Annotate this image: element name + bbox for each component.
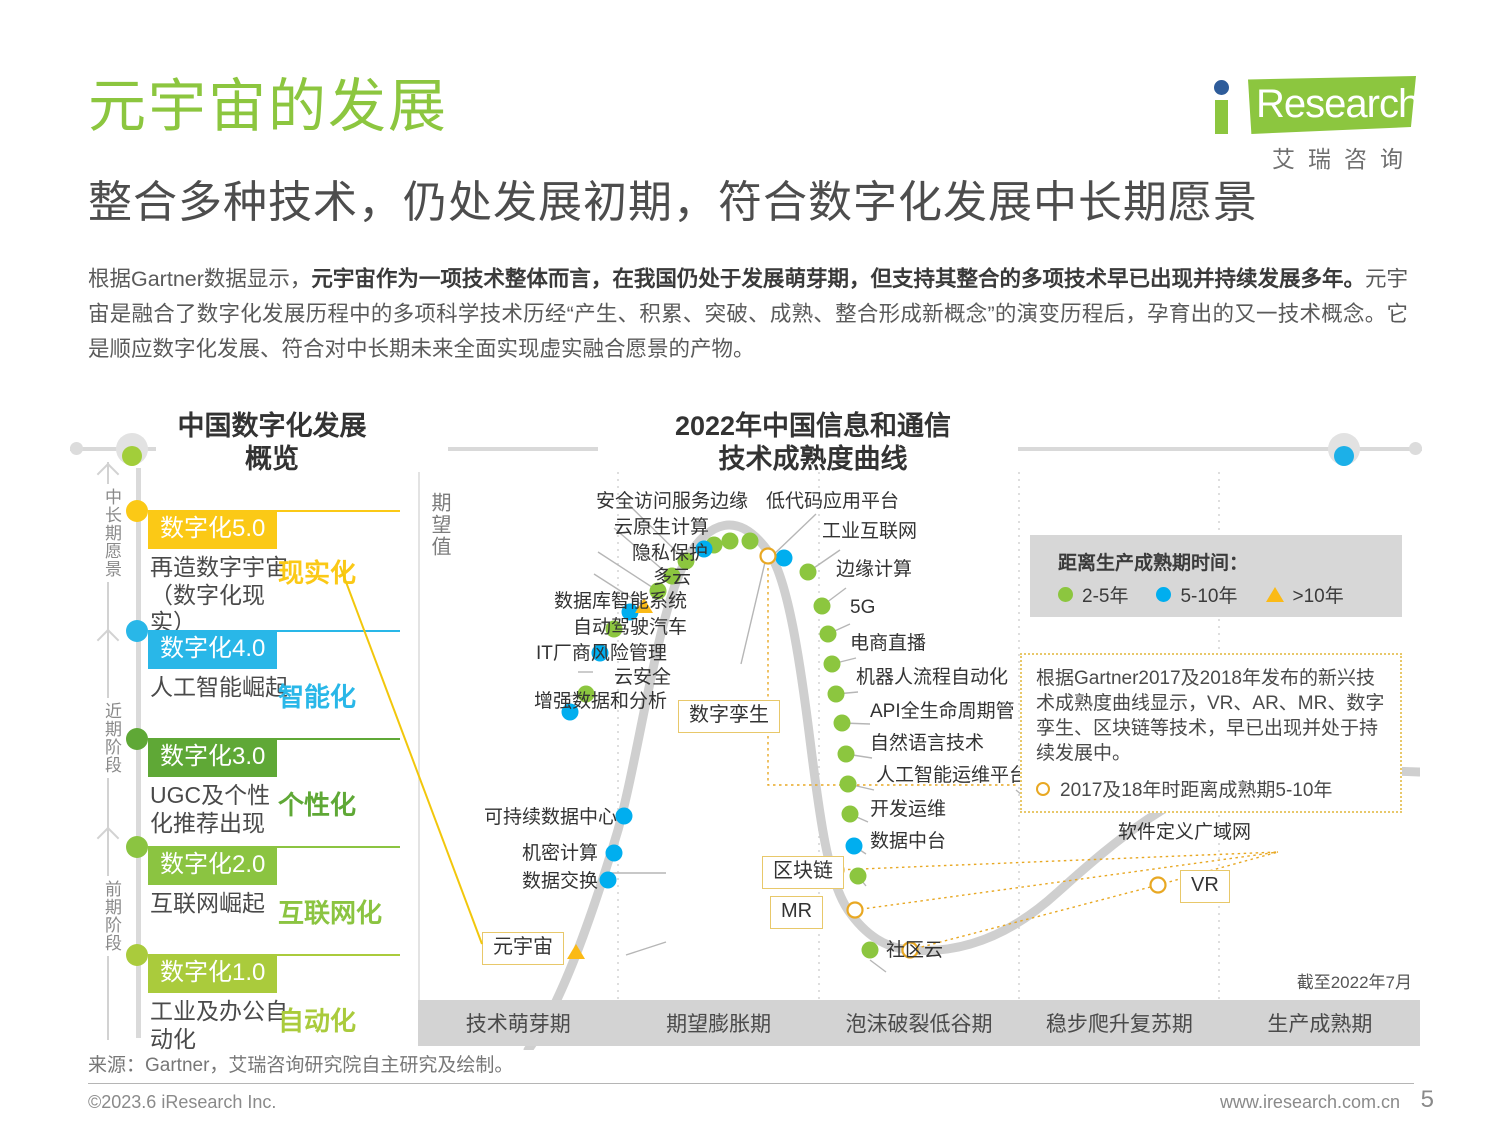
page-subtitle: 整合多种技术，仍处发展初期，符合数字化发展中长期愿景 — [88, 178, 1258, 229]
stage-desc-3: UGC及个性化推荐出现 — [150, 782, 288, 837]
point-label-multi-cloud: 多云 — [653, 568, 691, 589]
axis-arrow-low-icon — [97, 827, 120, 850]
paragraph-bold: 元宇宙作为一项技术整体而言，在我国仍处于发展萌芽期，但支持其整合的多项技术早已出… — [311, 267, 1365, 291]
footer-copyright: ©2023.6 iResearch Inc. — [88, 1092, 276, 1113]
sidebar-to-chart-connector — [330, 560, 530, 960]
phase-label-2: 期望膨胀期 — [618, 1000, 818, 1046]
point-label-mr[interactable]: MR — [770, 896, 823, 929]
logo-i-dot-icon — [1214, 80, 1229, 95]
chart-phase-bar: 技术萌芽期 期望膨胀期 泡沫破裂低谷期 稳步爬升复苏期 生产成熟期 — [418, 1000, 1420, 1046]
point-label-it-vendor-risk-management: IT厂商风险管理 — [536, 644, 667, 665]
phase-label-5: 生产成熟期 — [1220, 1000, 1420, 1046]
stage-node-2 — [126, 836, 148, 858]
legend-green-dot-icon — [1058, 587, 1073, 602]
point-label-data-exchange: 数据交换 — [522, 872, 598, 893]
legend-entry-2-5y: 2-5年 — [1058, 581, 1128, 608]
footer-website[interactable]: www.iresearch.com.cn — [1220, 1092, 1400, 1113]
stage-badge-1: 数字化1.0 — [148, 956, 277, 993]
stage-node-3 — [126, 728, 148, 750]
point-label-intelligent-database-system: 数据库智能系统 — [554, 592, 687, 613]
point-label-community-cloud: 社区云 — [886, 941, 943, 962]
stage-keyword-1: 自动化 — [278, 1006, 406, 1037]
point-label-cloud-native-computing: 云原生计算 — [614, 518, 709, 539]
logo-mark: Research — [1208, 74, 1416, 136]
point-label-privacy-protection: 隐私保护 — [632, 544, 708, 565]
iresearch-logo: Research 艾瑞咨询 — [1208, 74, 1418, 136]
page-title: 元宇宙的发展 — [88, 78, 448, 136]
axis-arrow-mid-icon — [97, 629, 120, 652]
body-paragraph: 根据Gartner数据显示，元宇宙作为一项技术整体而言，在我国仍处于发展萌芽期，… — [88, 262, 1408, 366]
chart-legend: 距离生产成熟期时间： 2-5年 5-10年 >10年 — [1030, 535, 1402, 617]
stage-desc-4: 人工智能崛起 — [150, 674, 288, 702]
logo-i-stem-icon — [1215, 100, 1228, 134]
left-heading-line-2: 概览 — [148, 443, 396, 476]
stage-badge-3: 数字化3.0 — [148, 740, 277, 777]
annotation-key-label: 2017及18年时距离成熟期5-10年 — [1060, 775, 1332, 802]
chart-annotation-box: 根据Gartner2017及2018年发布的新兴技术成熟度曲线显示，VR、AR、… — [1020, 653, 1402, 813]
page-number: 5 — [1421, 1086, 1434, 1114]
legend-entry-gt-10y: >10年 — [1266, 581, 1344, 608]
footer-divider — [88, 1083, 1414, 1084]
stage-node-4 — [126, 620, 148, 642]
legend-label-2-5y: 2-5年 — [1082, 581, 1128, 608]
point-label-industrial-internet: 工业互联网 — [822, 522, 917, 543]
point-label-api-lifecycle-management: API全生命周期管 — [870, 702, 1015, 723]
axis-label-nearterm: 近期阶段 — [93, 698, 121, 778]
phase-label-1: 技术萌芽期 — [418, 1000, 618, 1046]
stage-desc-2: 互联网崛起 — [150, 890, 288, 918]
phase-label-4: 稳步爬升复苏期 — [1019, 1000, 1219, 1046]
phase-label-3: 泡沫破裂低谷期 — [819, 1000, 1019, 1046]
point-label-low-code-platform: 低代码应用平台 — [766, 492, 899, 513]
stage-badge-5: 数字化5.0 — [148, 512, 277, 549]
left-heading-line-1: 中国数字化发展 — [148, 410, 396, 443]
stage-desc-1: 工业及办公自动化 — [150, 998, 288, 1053]
stage-node-1 — [126, 944, 148, 966]
point-label-vr[interactable]: VR — [1180, 870, 1230, 903]
point-label-edge-computing: 边缘计算 — [836, 560, 912, 581]
point-label-devops: 开发运维 — [870, 800, 946, 821]
axis-label-early: 前期阶段 — [93, 876, 121, 956]
point-label-digital-twin[interactable]: 数字孪生 — [678, 700, 780, 733]
point-label-5g: 5G — [850, 598, 875, 619]
left-panel-heading: 中国数字化发展 概览 — [148, 410, 396, 476]
legend-triangle-icon — [1266, 587, 1284, 602]
legend-items: 2-5年 5-10年 >10年 — [1058, 581, 1344, 608]
chart-as-of-date: 截至2022年7月 — [1297, 968, 1412, 993]
point-label-blockchain[interactable]: 区块链 — [762, 856, 844, 889]
legend-label-gt-10y: >10年 — [1293, 581, 1344, 608]
point-label-confidential-computing: 机密计算 — [522, 844, 598, 865]
point-label-ecommerce-livestream: 电商直播 — [850, 634, 926, 655]
point-label-augmented-data-analytics: 增强数据和分析 — [534, 692, 667, 713]
stage-badge-2: 数字化2.0 — [148, 848, 277, 885]
stage-badge-4: 数字化4.0 — [148, 632, 277, 669]
stage-desc-5: 再造数字宇宙（数字化现实） — [150, 554, 288, 637]
point-label-aiops-platform: 人工智能运维平台 — [876, 766, 1028, 787]
point-label-sd-wan: 软件定义广域网 — [1118, 823, 1251, 844]
rail-cap-left — [70, 442, 83, 455]
hype-cycle-chart: 2022年中国信息和通信 技术成熟度曲线 期望值 — [418, 410, 1420, 1050]
hollow-circle-icon — [1036, 782, 1050, 796]
point-label-cloud-security: 云安全 — [614, 668, 671, 689]
legend-title: 距离生产成熟期时间： — [1058, 548, 1248, 575]
legend-entry-5-10y: 5-10年 — [1156, 581, 1237, 608]
point-label-secure-access-service-edge: 安全访问服务边缘 — [596, 492, 748, 513]
legend-blue-dot-icon — [1156, 587, 1171, 602]
maturity-vertical-axis: 中长期愿景 近期阶段 前期阶段 — [88, 462, 128, 1040]
point-label-autonomous-vehicle: 自动驾驶汽车 — [573, 618, 687, 639]
point-label-natural-language-technology: 自然语言技术 — [870, 734, 984, 755]
point-label-data-middle-platform: 数据中台 — [870, 832, 946, 853]
annotation-text: 根据Gartner2017及2018年发布的新兴技术成熟度曲线显示，VR、AR、… — [1036, 666, 1386, 766]
axis-label-longterm: 中长期愿景 — [93, 484, 121, 582]
stage-node-5 — [126, 500, 148, 522]
logo-wordmark: Research — [1256, 82, 1419, 127]
source-note: 来源：Gartner，艾瑞咨询研究院自主研究及绘制。 — [88, 1050, 513, 1077]
axis-arrow-top-icon — [97, 463, 120, 486]
point-label-rpa: 机器人流程自动化 — [856, 668, 1008, 689]
annotation-key: 2017及18年时距离成熟期5-10年 — [1036, 775, 1386, 802]
logo-chinese-name: 艾瑞咨询 — [1272, 140, 1416, 174]
slide-page: 元宇宙的发展 整合多种技术，仍处发展初期，符合数字化发展中长期愿景 根据Gart… — [0, 0, 1500, 1125]
legend-label-5-10y: 5-10年 — [1180, 581, 1237, 608]
paragraph-part-1: 根据Gartner数据显示， — [88, 267, 311, 291]
